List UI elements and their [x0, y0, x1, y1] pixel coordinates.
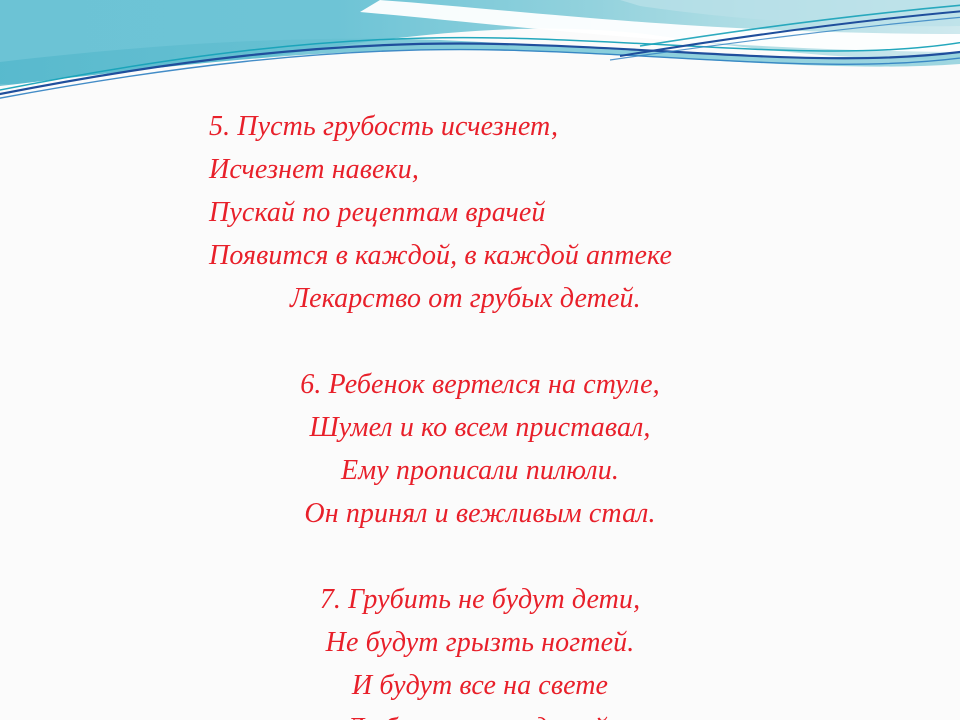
wave-line-blue	[0, 50, 960, 100]
wave-fill-primary	[0, 0, 960, 84]
wave-line-blue-upper	[610, 16, 960, 60]
poem-line: Ему прописали пилюли.	[0, 449, 960, 492]
poem-body: 5. Пусть грубость исчезнет, Исчезнет нав…	[0, 105, 960, 720]
wave-header-graphic	[0, 0, 960, 120]
wave-line-navy	[0, 44, 960, 96]
slide: 5. Пусть грубость исчезнет, Исчезнет нав…	[0, 0, 960, 720]
poem-line: Он принял и вежливым стал.	[0, 492, 960, 535]
wave-line-navy-upper	[620, 10, 960, 56]
poem-line: 6. Ребенок вертелся на стуле,	[0, 363, 960, 406]
wave-header-decoration	[0, 0, 960, 120]
poem-line: Лекарство от грубых детей.	[0, 277, 960, 320]
poem-line: Не будут грызть ногтей.	[0, 621, 960, 664]
poem-line: Пускай по рецептам врачей	[0, 191, 960, 234]
wave-fill-secondary	[0, 39, 960, 88]
poem-line: Шумел и ко всем приставал,	[0, 406, 960, 449]
poem-line: И будут все на свете	[0, 664, 960, 707]
wave-fill-upper-right	[620, 0, 960, 26]
wave-line-teal	[0, 38, 960, 92]
wave-line-teal-upper	[640, 4, 960, 46]
poem-line: 7. Грубить не будут дети,	[0, 578, 960, 621]
poem-line: Появится в каждой, в каждой аптеке	[0, 234, 960, 277]
poem-line: 5. Пусть грубость исчезнет,	[0, 105, 960, 148]
wave-white-swoosh	[360, 0, 960, 52]
stanza-6: 6. Ребенок вертелся на стуле, Шумел и ко…	[0, 363, 960, 535]
stanza-5: 5. Пусть грубость исчезнет, Исчезнет нав…	[0, 105, 960, 320]
stanza-7: 7. Грубить не будут дети, Не будут грызт…	[0, 578, 960, 720]
poem-line: Исчезнет навеки,	[0, 148, 960, 191]
poem-line: Любить таких детей.	[0, 707, 960, 720]
